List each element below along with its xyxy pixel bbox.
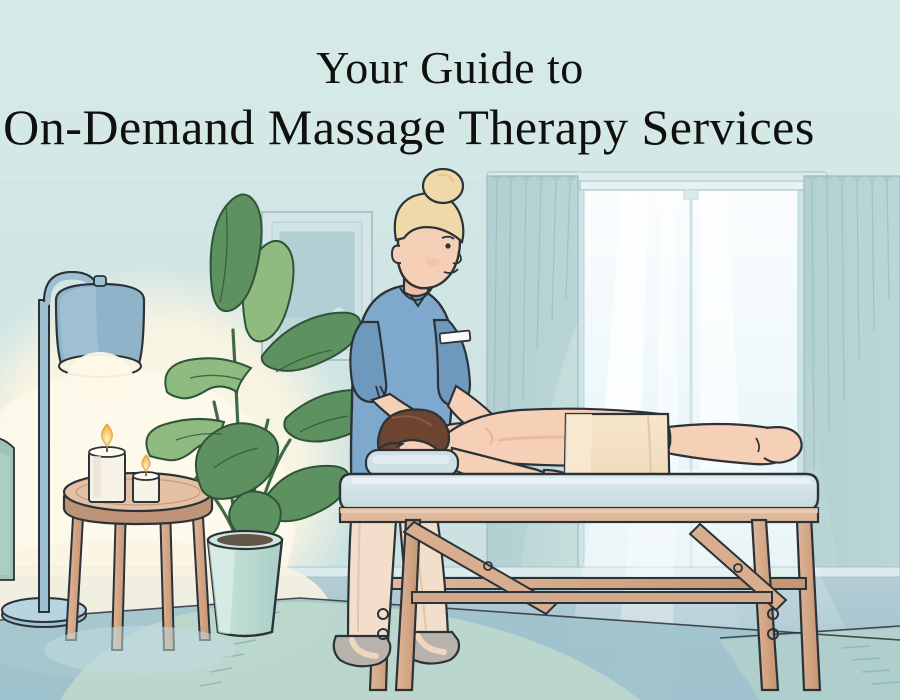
spa-room-illustration: [0, 0, 900, 700]
left-edge-object: [0, 437, 14, 580]
illustration-canvas: Your Guide to On-Demand Massage Therapy …: [0, 0, 900, 700]
therapist-name-badge: [440, 330, 471, 343]
face-pillow: [366, 450, 458, 476]
